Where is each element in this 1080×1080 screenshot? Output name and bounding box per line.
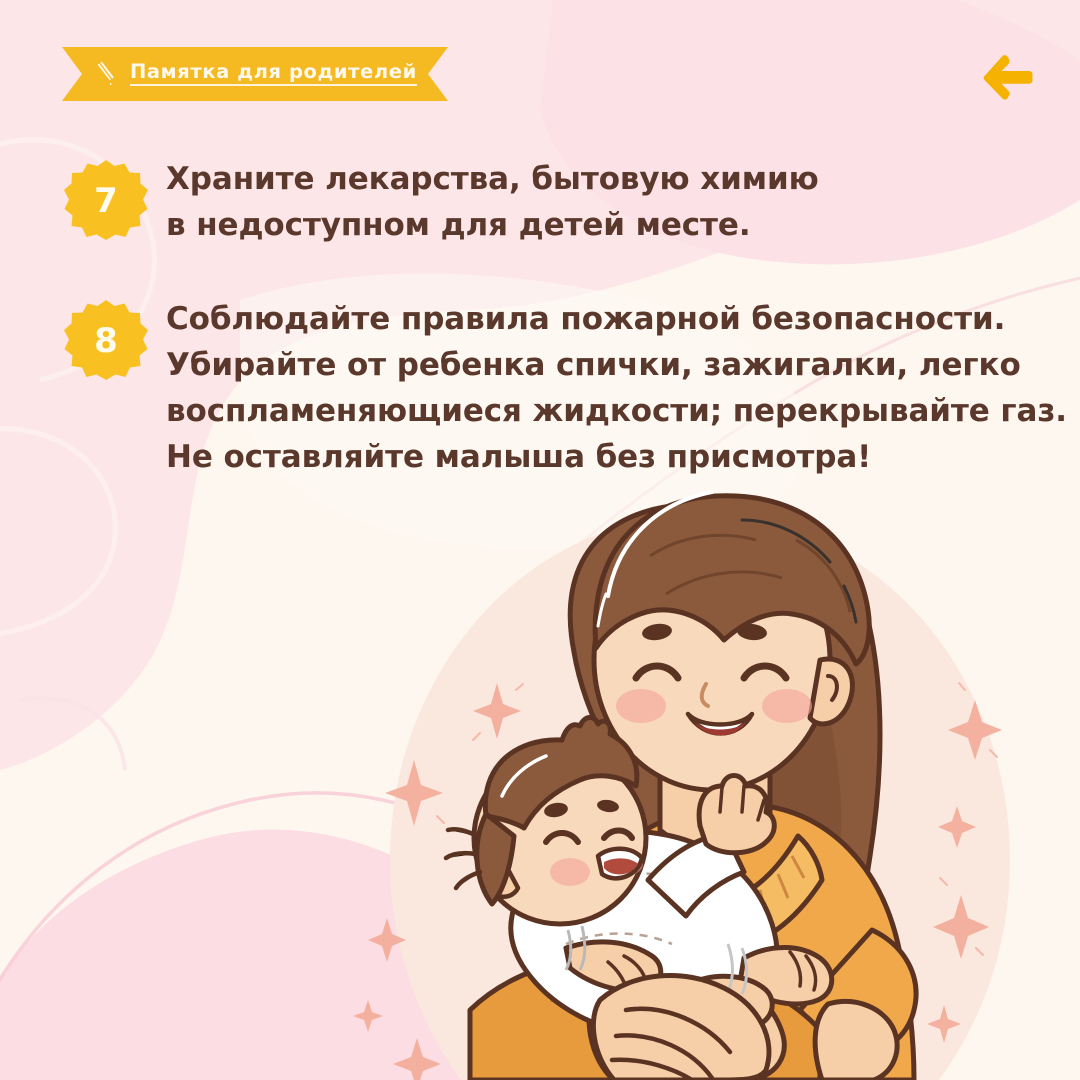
tip-line: Соблюдайте правила пожарной безопасности… xyxy=(166,296,1067,342)
tip-line: в недоступном для детей месте. xyxy=(166,202,819,248)
ribbon-label: Памятка для родителей xyxy=(130,62,417,86)
header-ribbon: Памятка для родителей xyxy=(62,47,448,101)
tip-line: воспламеняющиеся жидкости; перекрывайте … xyxy=(166,388,1067,434)
tip-number-badge: 7 xyxy=(64,158,148,242)
arrow-left-icon[interactable] xyxy=(980,52,1036,102)
sparkle-icon xyxy=(393,1038,441,1080)
tips-list: 7 Храните лекарства, бытовую химию в нед… xyxy=(0,152,1080,480)
tip-number: 7 xyxy=(64,158,148,242)
sparkle-icon xyxy=(353,1000,383,1032)
tip-number-badge: 8 xyxy=(64,298,148,382)
tip-line: Храните лекарства, бытовую химию xyxy=(166,156,819,202)
baby-blush-left xyxy=(550,858,590,886)
mother-blush-left xyxy=(616,689,666,723)
tip-text: Соблюдайте правила пожарной безопасности… xyxy=(166,292,1067,480)
pencil-icon xyxy=(90,57,122,89)
tip-line: Не оставляйте малыша без присмотра! xyxy=(166,434,1067,480)
tip-item: 8 Соблюдайте правила пожарной безопаснос… xyxy=(0,292,1080,480)
mother-blush-right xyxy=(762,689,812,723)
poster-page: Памятка для родителей 7 Храните лекарств… xyxy=(0,0,1080,1080)
mother-hand-right-edge xyxy=(815,1002,897,1080)
tip-line: Убирайте от ребенка спички, зажигалки, л… xyxy=(166,342,1067,388)
tip-item: 7 Храните лекарства, бытовую химию в нед… xyxy=(0,152,1080,248)
tip-text: Храните лекарства, бытовую химию в недос… xyxy=(166,152,819,248)
tip-number: 8 xyxy=(64,298,148,382)
